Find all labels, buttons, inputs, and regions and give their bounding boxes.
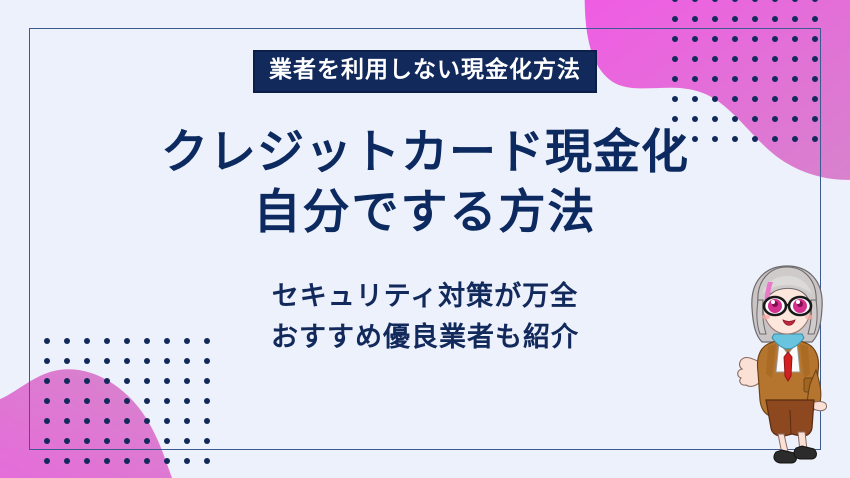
- badge-label: 業者を利用しない現金化方法: [253, 50, 597, 93]
- subtitle-line-2: おすすめ優良業者も紹介: [271, 317, 579, 359]
- chibi-girl-icon: [732, 260, 842, 470]
- banner-content: 業者を利用しない現金化方法 クレジットカード現金化 自分でする方法 セキュリティ…: [0, 0, 850, 478]
- page-title: クレジットカード現金化 自分でする方法: [161, 123, 689, 243]
- banner-canvas: 業者を利用しない現金化方法 クレジットカード現金化 自分でする方法 セキュリティ…: [0, 0, 850, 478]
- page-subtitle: セキュリティ対策が万全 おすすめ優良業者も紹介: [271, 276, 579, 360]
- subtitle-line-1: セキュリティ対策が万全: [271, 276, 579, 318]
- title-line-2: 自分でする方法: [161, 183, 689, 243]
- title-line-1: クレジットカード現金化: [161, 123, 689, 183]
